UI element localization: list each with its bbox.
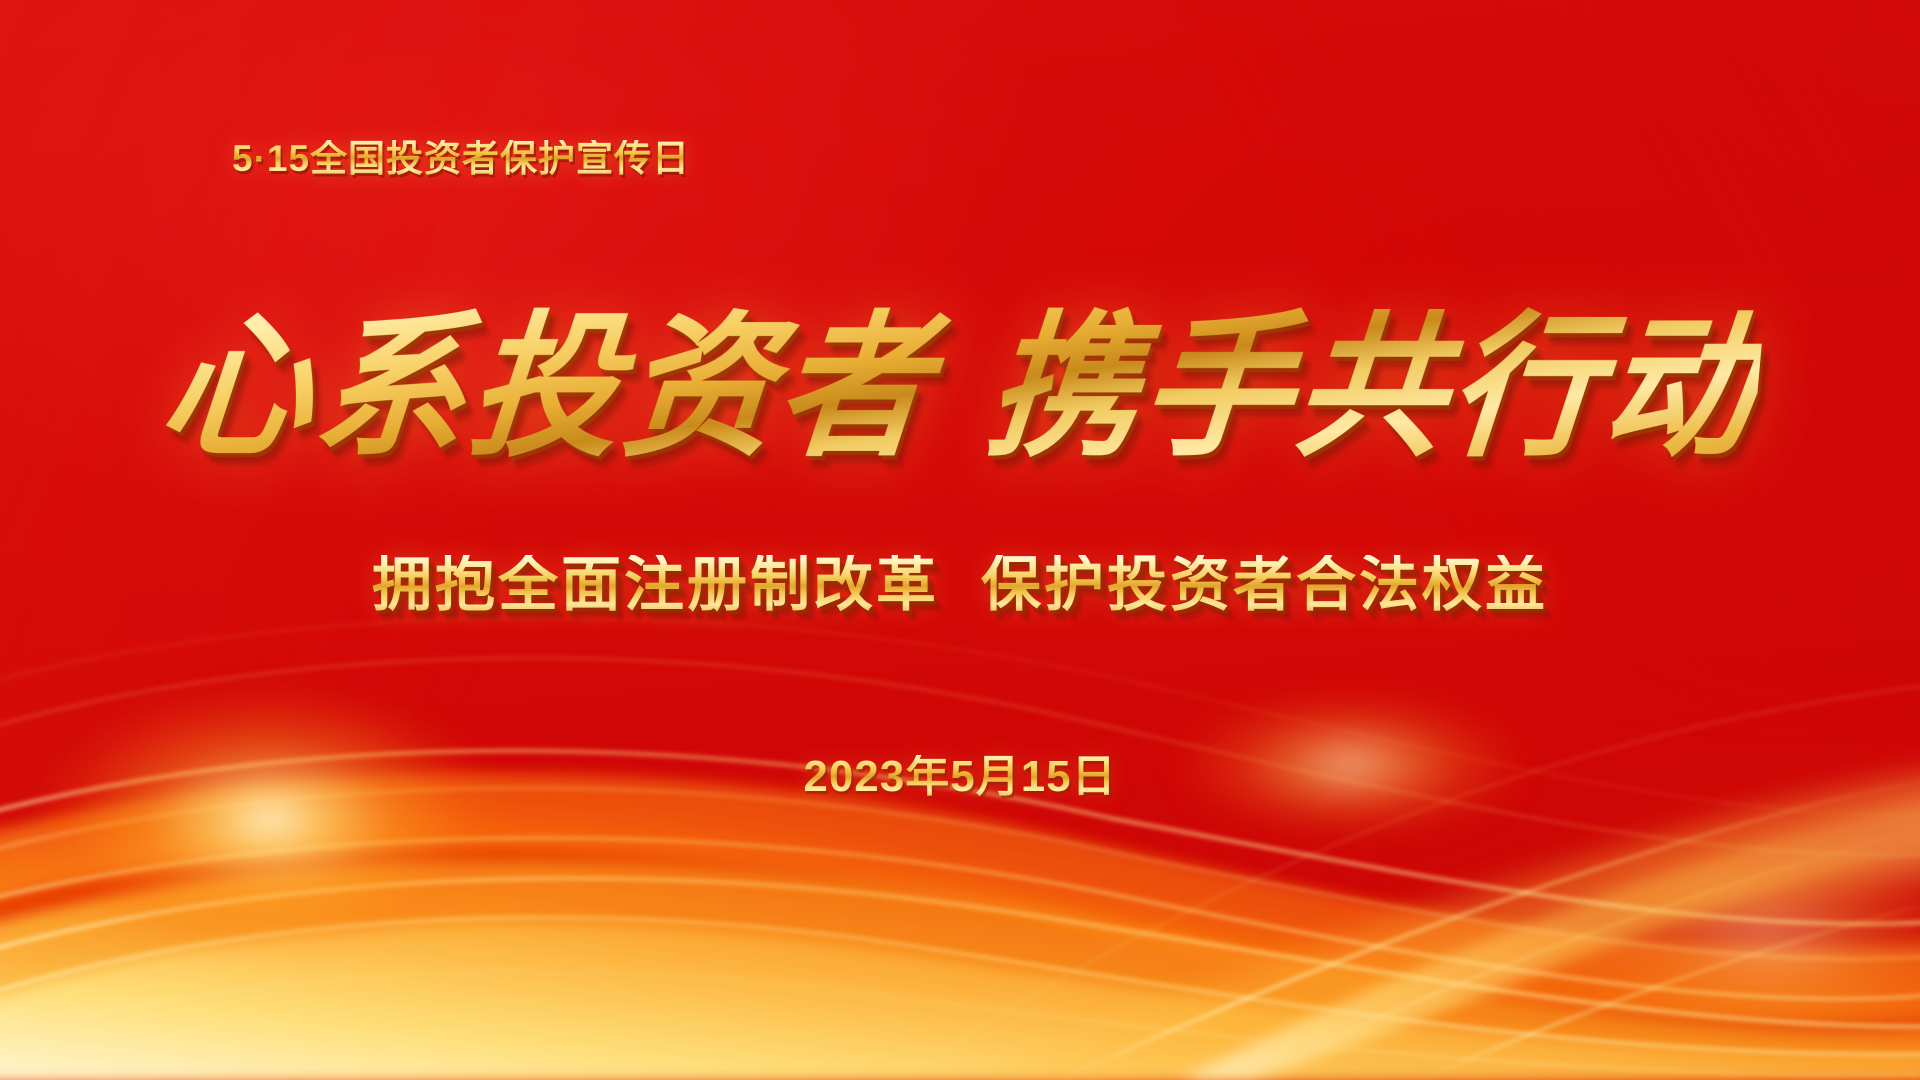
main-title-calligraphy: 心系投资者携手共行动: [154, 297, 1766, 478]
event-date: 2023年5月15日: [0, 755, 1920, 799]
banner-content: 5·15全国投资者保护宣传日 心系投资者携手共行动 拥抱全面注册制改革保护投资者…: [0, 0, 1920, 1080]
subtitle-part-left: 拥抱全面注册制改革: [372, 551, 939, 618]
event-date-text: 2023年5月15日: [803, 755, 1116, 799]
main-title-part-left: 心系投资者: [154, 295, 940, 478]
subtitle: 拥抱全面注册制改革保护投资者合法权益: [0, 555, 1920, 615]
subtitle-part-right: 保护投资者合法权益: [981, 551, 1548, 618]
main-title: 心系投资者携手共行动: [0, 300, 1920, 474]
event-eyebrow-label: 5·15全国投资者保护宣传日: [232, 140, 690, 177]
subtitle-text: 拥抱全面注册制改革保护投资者合法权益: [372, 555, 1548, 615]
main-title-part-right: 携手共行动: [980, 295, 1766, 478]
investor-protection-banner: 5·15全国投资者保护宣传日 心系投资者携手共行动 拥抱全面注册制改革保护投资者…: [0, 0, 1920, 1080]
